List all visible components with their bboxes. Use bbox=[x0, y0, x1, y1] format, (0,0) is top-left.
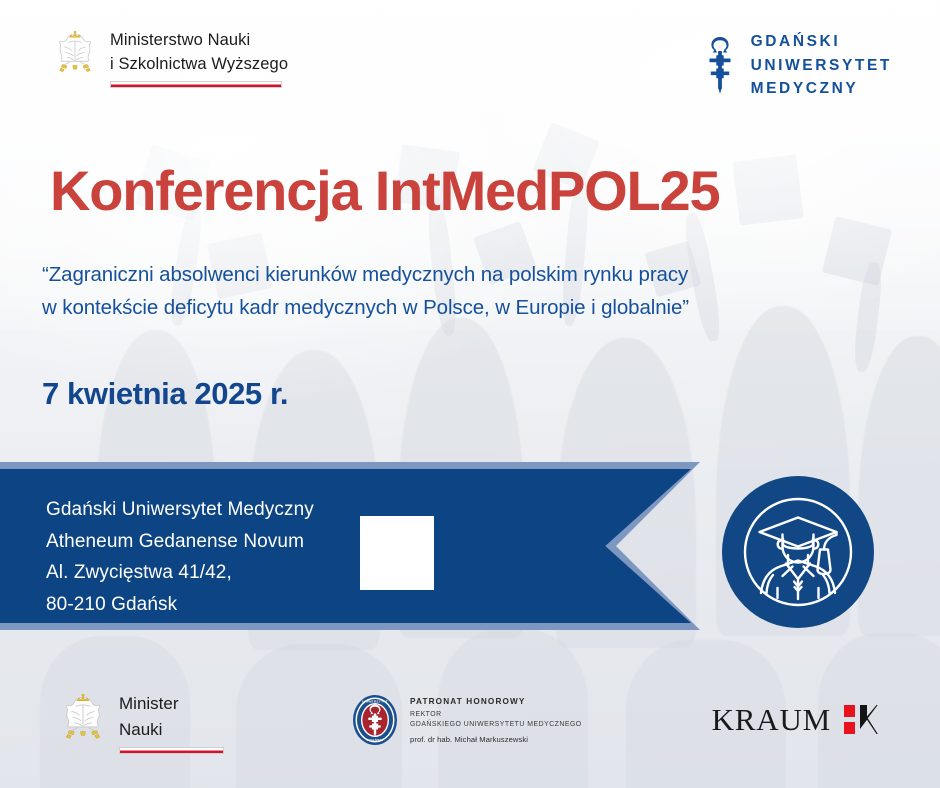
conference-subtitle: “Zagraniczni absolwenci kierunków medycz… bbox=[42, 258, 689, 324]
patronage-person: prof. dr hab. Michał Markuszewski bbox=[410, 735, 582, 744]
polish-eagle-emblem-icon bbox=[52, 28, 98, 80]
minister-logo-line2: Nauki bbox=[119, 716, 224, 742]
kraum-wordmark: KRAUM bbox=[712, 702, 831, 738]
qr-code[interactable] bbox=[360, 516, 434, 590]
qr-code-matrix bbox=[364, 520, 430, 586]
patronage-role: REKTOR bbox=[410, 710, 582, 720]
gumed-caduceus-emblem-icon bbox=[703, 34, 737, 96]
conference-poster: Ministerstwo Nauki i Szkolnictwa Wyższeg… bbox=[0, 0, 940, 788]
gumed-rector-seal-icon: UNIWERSYTET GDAŃSKI bbox=[352, 694, 398, 746]
ministry-logo-line1: Ministerstwo Nauki bbox=[110, 28, 288, 52]
minister-of-science-logo: Minister Nauki bbox=[58, 690, 224, 754]
polish-flag-bar bbox=[119, 747, 224, 754]
svg-text:GDAŃSKI: GDAŃSKI bbox=[367, 737, 383, 742]
gumed-logo-line3: MEDYCZNY bbox=[751, 77, 892, 101]
venue-address: Gdański Uniwersytet Medyczny Atheneum Ge… bbox=[46, 494, 314, 620]
polish-eagle-emblem-icon bbox=[58, 690, 108, 748]
gumed-logo-line2: UNIWERSYTET bbox=[751, 54, 892, 78]
subtitle-line-1: “Zagraniczni absolwenci kierunków medycz… bbox=[42, 258, 689, 291]
patronage-institution: GDAŃSKIEGO UNIWERSYTETU MEDYCZNEGO bbox=[410, 720, 582, 730]
venue-line-4: 80-210 Gdańsk bbox=[46, 589, 314, 621]
minister-logo-line1: Minister bbox=[119, 690, 224, 716]
svg-text:UNIWERSYTET: UNIWERSYTET bbox=[362, 699, 388, 703]
subtitle-line-2: w kontekście deficytu kadr medycznych w … bbox=[42, 291, 689, 324]
patronage-title: PATRONAT HONOROWY bbox=[410, 697, 582, 706]
venue-line-3: Al. Zwycięstwa 41/42, bbox=[46, 557, 314, 589]
polish-flag-bar bbox=[110, 81, 282, 88]
venue-line-1: Gdański Uniwersytet Medyczny bbox=[46, 494, 314, 526]
gumed-logo-line1: GDAŃSKI bbox=[751, 30, 892, 54]
kraum-logo: KRAUM bbox=[712, 702, 878, 738]
venue-line-2: Atheneum Gedanense Novum bbox=[46, 526, 314, 558]
honorary-patronage: UNIWERSYTET GDAŃSKI PATRONAT HONOROWY RE… bbox=[352, 694, 582, 746]
kraum-mark-icon bbox=[844, 704, 878, 736]
graduate-medallion bbox=[722, 476, 874, 628]
event-date: 7 kwietnia 2025 r. bbox=[42, 376, 288, 412]
gumed-logo: GDAŃSKI UNIWERSYTET MEDYCZNY bbox=[703, 30, 892, 101]
graduate-student-icon bbox=[735, 489, 861, 615]
ministry-logo-line2: i Szkolnictwa Wyższego bbox=[110, 52, 288, 76]
page-title: Konferencja IntMedPOL25 bbox=[50, 158, 719, 223]
ministry-of-science-logo: Ministerstwo Nauki i Szkolnictwa Wyższeg… bbox=[52, 28, 288, 88]
